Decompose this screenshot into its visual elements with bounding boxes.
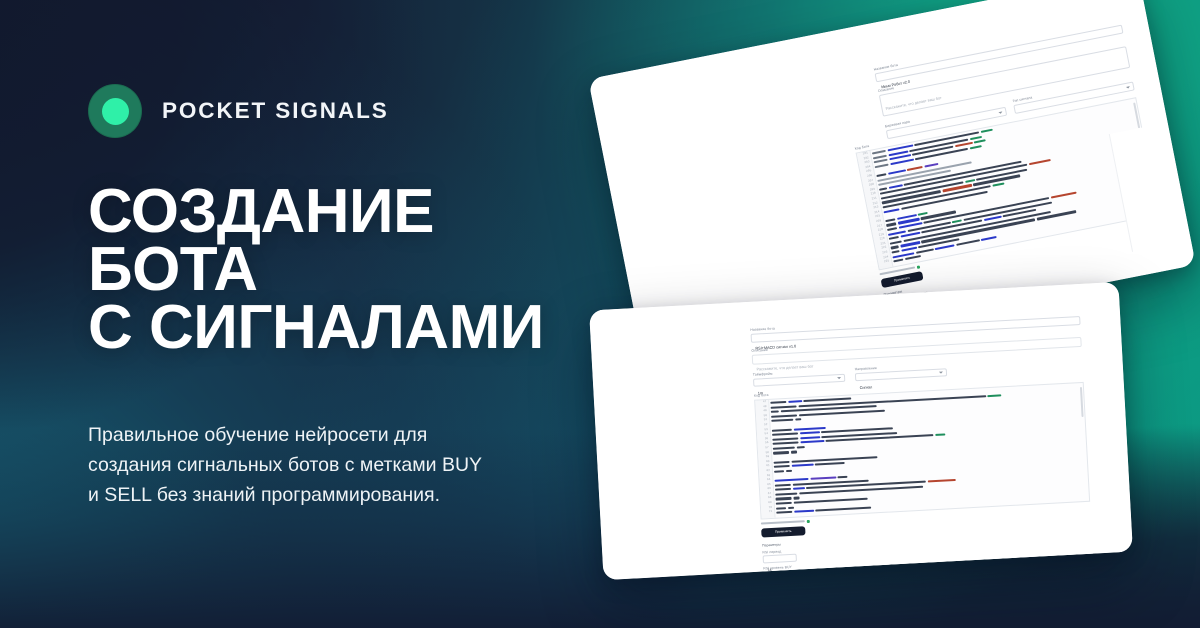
card-bottom-form: Название бота RSI+MACD сигнал v1.0 Описа… bbox=[750, 310, 1094, 580]
compile-status-text bbox=[761, 520, 805, 525]
left-content-column: POCKET SIGNALS СОЗДАНИЕ БОТА С СИГНАЛАМИ… bbox=[88, 0, 608, 628]
page-subtitle-line-2: создания сигнальных ботов с метками BUY bbox=[88, 450, 558, 480]
save-bot-button-label: Сохранить бота bbox=[1051, 571, 1075, 576]
direction-value: Сигнал bbox=[860, 385, 873, 390]
code-scrollbar-bottom[interactable] bbox=[1080, 387, 1083, 417]
direction-group: Направление Сигнал bbox=[855, 362, 948, 381]
page-title-line-1: СОЗДАНИЕ bbox=[88, 183, 544, 241]
page-subtitle-line-1: Правильное обучение нейросети для bbox=[88, 420, 558, 450]
timeframe-value: 1m bbox=[758, 391, 763, 395]
code-lines-bottom bbox=[770, 384, 1087, 515]
card-bottom-surface: Название бота RSI+MACD сигнал v1.0 Описа… bbox=[589, 282, 1133, 580]
page-title: СОЗДАНИЕ БОТА С СИГНАЛАМИ bbox=[88, 183, 544, 357]
apply-button-top-label: Применить bbox=[894, 276, 911, 283]
apply-button-bottom[interactable]: Применить bbox=[761, 526, 805, 537]
status-ok-icon bbox=[917, 265, 921, 269]
card-bottom-footer: Отмена Сохранить бота bbox=[764, 567, 1089, 580]
page-subtitle-line-3: и SELL без знаний программирования. bbox=[88, 480, 558, 510]
banner-root: Название бота Мини Робот v2.0 Описание Р… bbox=[0, 0, 1200, 628]
screenshot-card-bottom: Название бота RSI+MACD сигнал v1.0 Описа… bbox=[589, 282, 1133, 580]
save-bot-button[interactable]: Сохранить бота bbox=[1037, 568, 1089, 580]
ring-dot-icon bbox=[88, 84, 142, 138]
page-title-line-2: БОТА bbox=[88, 241, 544, 299]
code-editor-bottom[interactable]: 47484950515253545556 5758596061626364656… bbox=[754, 382, 1090, 520]
page-subtitle: Правильное обучение нейросети для создан… bbox=[88, 420, 558, 510]
param-rsi-buy-input[interactable]: 30 bbox=[763, 570, 797, 579]
apply-button-bottom-label: Применить bbox=[775, 529, 792, 534]
page-title-line-3: С СИГНАЛАМИ bbox=[88, 299, 544, 357]
description-placeholder: Расскажите, что делает ваш бот bbox=[885, 96, 942, 111]
param-rsi-period-input[interactable]: 14 bbox=[763, 554, 797, 563]
brand-name: POCKET SIGNALS bbox=[162, 98, 389, 124]
compile-ok-icon bbox=[807, 519, 810, 522]
brand-lockup: POCKET SIGNALS bbox=[88, 84, 389, 138]
ring-dot-icon-center bbox=[102, 98, 129, 125]
